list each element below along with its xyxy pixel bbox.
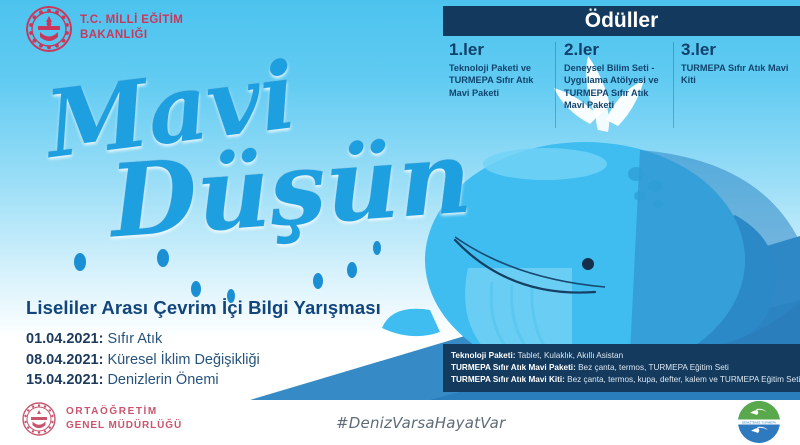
title-word-dusun: Düşün: [106, 118, 474, 261]
prize-detail-value: Bez çanta, termos, kupa, defter, kalem v…: [565, 375, 800, 384]
schedule-topic: Denizlerin Önemi: [107, 372, 218, 388]
prize-detail-label: TURMEPA Sıfır Atık Mavi Paketi:: [451, 363, 576, 372]
schedule-topic: Sıfır Atık: [107, 331, 162, 347]
schedule-date: 08.04.2021:: [26, 352, 103, 368]
org-emblem-icon: [22, 402, 56, 436]
prize-detail-row: Teknoloji Paketi: Tablet, Kulaklık, Akıl…: [451, 350, 800, 362]
schedule-list: 01.04.2021: Sıfır Atık 08.04.2021: Küres…: [26, 329, 260, 391]
award-description: TURMEPA Sıfır Atık Mavi Kiti: [681, 62, 799, 87]
schedule-row: 01.04.2021: Sıfır Atık: [26, 329, 260, 350]
org-name: ORTAÖĞRETİM GENEL MÜDÜRLÜĞÜ: [66, 405, 182, 432]
poster-canvas: T.C. MİLLİ EĞİTİM BAKANLIĞI Mavi Düşün L…: [0, 0, 800, 445]
award-description: Teknoloji Paketi ve TURMEPA Sıfır Atık M…: [449, 62, 553, 99]
campaign-hashtag: #DenizVarsaHayatVar: [336, 414, 505, 432]
schedule-date: 01.04.2021:: [26, 331, 103, 347]
ministry-name-line1: T.C. MİLLİ EĞİTİM: [80, 13, 183, 28]
award-column-first: 1.ler Teknoloji Paketi ve TURMEPA Sıfır …: [449, 40, 553, 99]
org-name-line2: GENEL MÜDÜRLÜĞÜ: [66, 419, 182, 433]
prize-detail-value: Bez çanta, termos, TURMEPA Eğitim Seti: [576, 363, 729, 372]
award-rank: 1.ler: [449, 40, 553, 59]
turmepa-logo-icon: DENİZTEMİZ TURMEPA: [737, 400, 781, 444]
ministry-name: T.C. MİLLİ EĞİTİM BAKANLIĞI: [80, 13, 183, 43]
column-divider: [555, 42, 556, 128]
award-description: Deneysel Bilim Seti - Uygulama Atölyesi …: [564, 62, 670, 112]
prize-details-panel: Teknoloji Paketi: Tablet, Kulaklık, Akıl…: [443, 344, 800, 392]
award-rank: 2.ler: [564, 40, 670, 59]
awards-header: Ödüller: [443, 6, 800, 36]
prize-detail-row: TURMEPA Sıfır Atık Mavi Kiti: Bez çanta,…: [451, 374, 800, 386]
award-column-second: 2.ler Deneysel Bilim Seti - Uygulama Atö…: [564, 40, 670, 112]
org-logo: ORTAÖĞRETİM GENEL MÜDÜRLÜĞÜ: [22, 400, 222, 438]
award-rank: 3.ler: [681, 40, 799, 59]
awards-panel: Ödüller 1.ler Teknoloji Paketi ve TURMEP…: [443, 0, 800, 132]
award-column-third: 3.ler TURMEPA Sıfır Atık Mavi Kiti: [681, 40, 799, 87]
ministry-logo: T.C. MİLLİ EĞİTİM BAKANLIĞI: [26, 6, 206, 52]
prize-detail-row: TURMEPA Sıfır Atık Mavi Paketi: Bez çant…: [451, 362, 800, 374]
campaign-title: Mavi Düşün: [18, 52, 438, 272]
subtitle: Liseliler Arası Çevrim İçi Bilgi Yarışma…: [26, 297, 381, 319]
ministry-emblem-icon: [26, 6, 72, 52]
prize-detail-label: TURMEPA Sıfır Atık Mavi Kiti:: [451, 375, 565, 384]
turmepa-wordmark: DENİZTEMİZ TURMEPA: [742, 420, 777, 425]
schedule-row: 15.04.2021: Denizlerin Önemi: [26, 370, 260, 391]
ministry-name-line2: BAKANLIĞI: [80, 28, 183, 43]
schedule-row: 08.04.2021: Küresel İklim Değişikliği: [26, 350, 260, 371]
awards-columns: 1.ler Teknoloji Paketi ve TURMEPA Sıfır …: [443, 40, 800, 132]
schedule-topic: Küresel İklim Değişikliği: [107, 352, 259, 368]
prize-detail-value: Tablet, Kulaklık, Akıllı Asistan: [515, 351, 623, 360]
prize-detail-label: Teknoloji Paketi:: [451, 351, 515, 360]
org-name-line1: ORTAÖĞRETİM: [66, 405, 182, 419]
schedule-date: 15.04.2021:: [26, 372, 103, 388]
column-divider: [673, 42, 674, 128]
